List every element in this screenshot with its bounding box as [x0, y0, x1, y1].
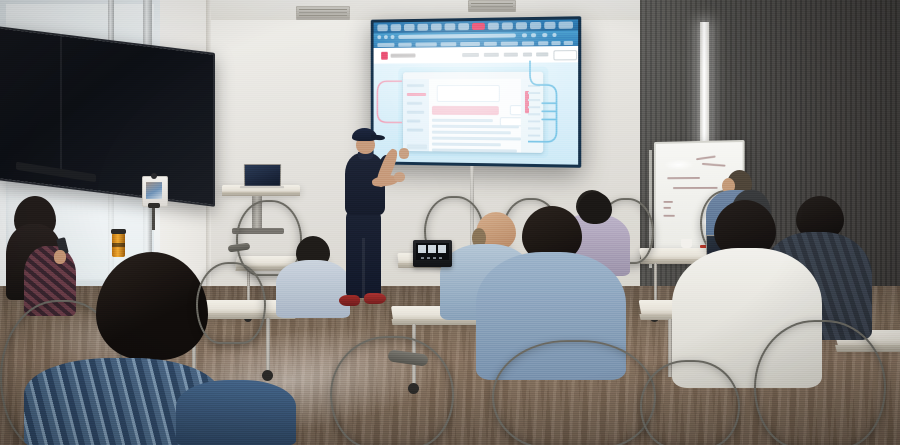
- nav-back-icon[interactable]: [377, 35, 381, 39]
- bookmark-item[interactable]: [377, 42, 394, 46]
- whiteboard-writing: [696, 156, 716, 161]
- browser-tab[interactable]: [488, 23, 499, 30]
- projection-screen: [371, 16, 581, 168]
- presenter-cap-brim: [371, 135, 385, 141]
- sidebar-footer-row[interactable]: [407, 144, 427, 149]
- sidebar-row[interactable]: [407, 111, 424, 114]
- content-card: [437, 85, 500, 102]
- content-row: [432, 125, 519, 128]
- sidebar-row[interactable]: [407, 84, 424, 87]
- bookmark-item[interactable]: [551, 41, 560, 45]
- monitor-thumbnail: [418, 245, 426, 253]
- address-bar-text[interactable]: [398, 33, 516, 38]
- hero-mockup-frame: [398, 67, 548, 159]
- bookmark-item[interactable]: [538, 41, 548, 45]
- coffee-tumbler-lid: [111, 229, 126, 234]
- office-chair: [754, 320, 886, 445]
- camera-icon: [151, 173, 157, 179]
- nav-item[interactable]: [462, 53, 479, 57]
- monitor-button[interactable]: [439, 257, 442, 259]
- presenter-hand-right: [399, 148, 409, 159]
- menu-icon[interactable]: [552, 33, 556, 37]
- bookmark-item[interactable]: [522, 41, 534, 45]
- wall-display-seam: [60, 30, 62, 176]
- attendee-torso: [276, 260, 350, 318]
- logo-wordmark: [391, 54, 416, 58]
- sidebar-row[interactable]: [407, 102, 422, 105]
- browser-tab[interactable]: [559, 21, 573, 28]
- content-row: [432, 148, 517, 152]
- profile-avatar[interactable]: [542, 33, 547, 37]
- nav-item[interactable]: [504, 53, 518, 57]
- office-chair: [640, 360, 740, 445]
- air-vent-left: [296, 6, 350, 20]
- browser-tab[interactable]: [417, 24, 428, 31]
- extension-icon[interactable]: [522, 33, 527, 37]
- whiteboard-writing: [663, 215, 674, 217]
- bookmark-item[interactable]: [441, 42, 457, 46]
- browser-tab[interactable]: [431, 23, 442, 30]
- bookmark-item[interactable]: [416, 42, 437, 46]
- table-leg: [266, 318, 270, 374]
- whiteboard-writing: [663, 207, 671, 209]
- conference-room-photo: Conference room presentation Corporate t…: [0, 0, 900, 445]
- nav-forward-icon[interactable]: [384, 35, 388, 39]
- whiteboard-writing: [673, 187, 718, 189]
- content-highlight-row: [432, 106, 499, 115]
- bookmark-item[interactable]: [501, 41, 518, 45]
- content-row: [432, 131, 511, 134]
- tripod-foot: [148, 203, 160, 208]
- field-monitor-screen: [416, 243, 449, 260]
- nav-item[interactable]: [484, 53, 499, 57]
- wall-display[interactable]: [0, 26, 215, 207]
- monitor-thumbnail: [438, 245, 446, 253]
- presenter-shoe-right: [364, 293, 386, 304]
- presenter-leg-gap: [362, 238, 365, 300]
- sidebar-row[interactable]: [407, 120, 420, 123]
- app-sidebar: [403, 79, 429, 151]
- browser-tab[interactable]: [458, 23, 469, 30]
- browser-tab[interactable]: [391, 24, 401, 31]
- sidebar-row-active[interactable]: [407, 93, 426, 96]
- sidebar-row[interactable]: [407, 128, 423, 131]
- app-content-area: [429, 79, 521, 153]
- browser-tab-active[interactable]: [472, 23, 485, 30]
- bookmark-item[interactable]: [460, 41, 480, 45]
- whiteboard-writing: [663, 201, 673, 203]
- content-row: [432, 119, 493, 122]
- attendee-shoulder: [176, 380, 296, 445]
- presenter-shoe-left: [339, 295, 360, 306]
- attendee-hand: [54, 250, 66, 264]
- office-chair: [492, 340, 656, 445]
- monitor-thumbnail: [428, 245, 436, 253]
- presenter-laptop-keyboard[interactable]: [240, 186, 284, 188]
- monitor-button[interactable]: [421, 257, 424, 259]
- monitor-button[interactable]: [433, 257, 436, 259]
- office-chair: [196, 262, 266, 344]
- app-window-mockup: [403, 72, 543, 153]
- browser-tab[interactable]: [544, 22, 555, 29]
- monitor-button[interactable]: [427, 257, 430, 259]
- coffee-mug: [681, 239, 692, 248]
- bookmark-item[interactable]: [564, 40, 573, 44]
- phone-screen[interactable]: [146, 182, 162, 199]
- whiteboard-writing: [667, 177, 700, 179]
- browser-tab[interactable]: [377, 24, 387, 31]
- whiteboard-glare: [663, 159, 694, 170]
- table-caster: [262, 370, 273, 381]
- attendee-head: [578, 192, 612, 224]
- browser-tab[interactable]: [530, 22, 541, 29]
- browser-tab[interactable]: [516, 22, 527, 29]
- presenter-hand-left: [394, 172, 405, 182]
- content-row: [432, 137, 521, 140]
- whiteboard-writing: [702, 163, 726, 167]
- presenter-laptop-screen[interactable]: [244, 164, 281, 188]
- logo-icon: [381, 52, 388, 60]
- content-row: [432, 143, 501, 146]
- pink-circuit-trace-icon: [374, 73, 402, 132]
- coffee-tumbler-band: [112, 243, 125, 247]
- field-monitor[interactable]: [413, 240, 452, 267]
- bookmark-item[interactable]: [484, 41, 497, 45]
- nav-reload-icon[interactable]: [391, 35, 395, 39]
- browser-tab[interactable]: [445, 23, 456, 30]
- blue-circuit-trace-icon: [528, 54, 578, 161]
- bookmark-item[interactable]: [398, 42, 411, 46]
- projected-slide: [374, 19, 579, 164]
- browser-tab[interactable]: [502, 22, 513, 29]
- browser-tab[interactable]: [404, 24, 415, 31]
- extension-icon[interactable]: [531, 33, 536, 37]
- air-vent-right: [468, 0, 516, 12]
